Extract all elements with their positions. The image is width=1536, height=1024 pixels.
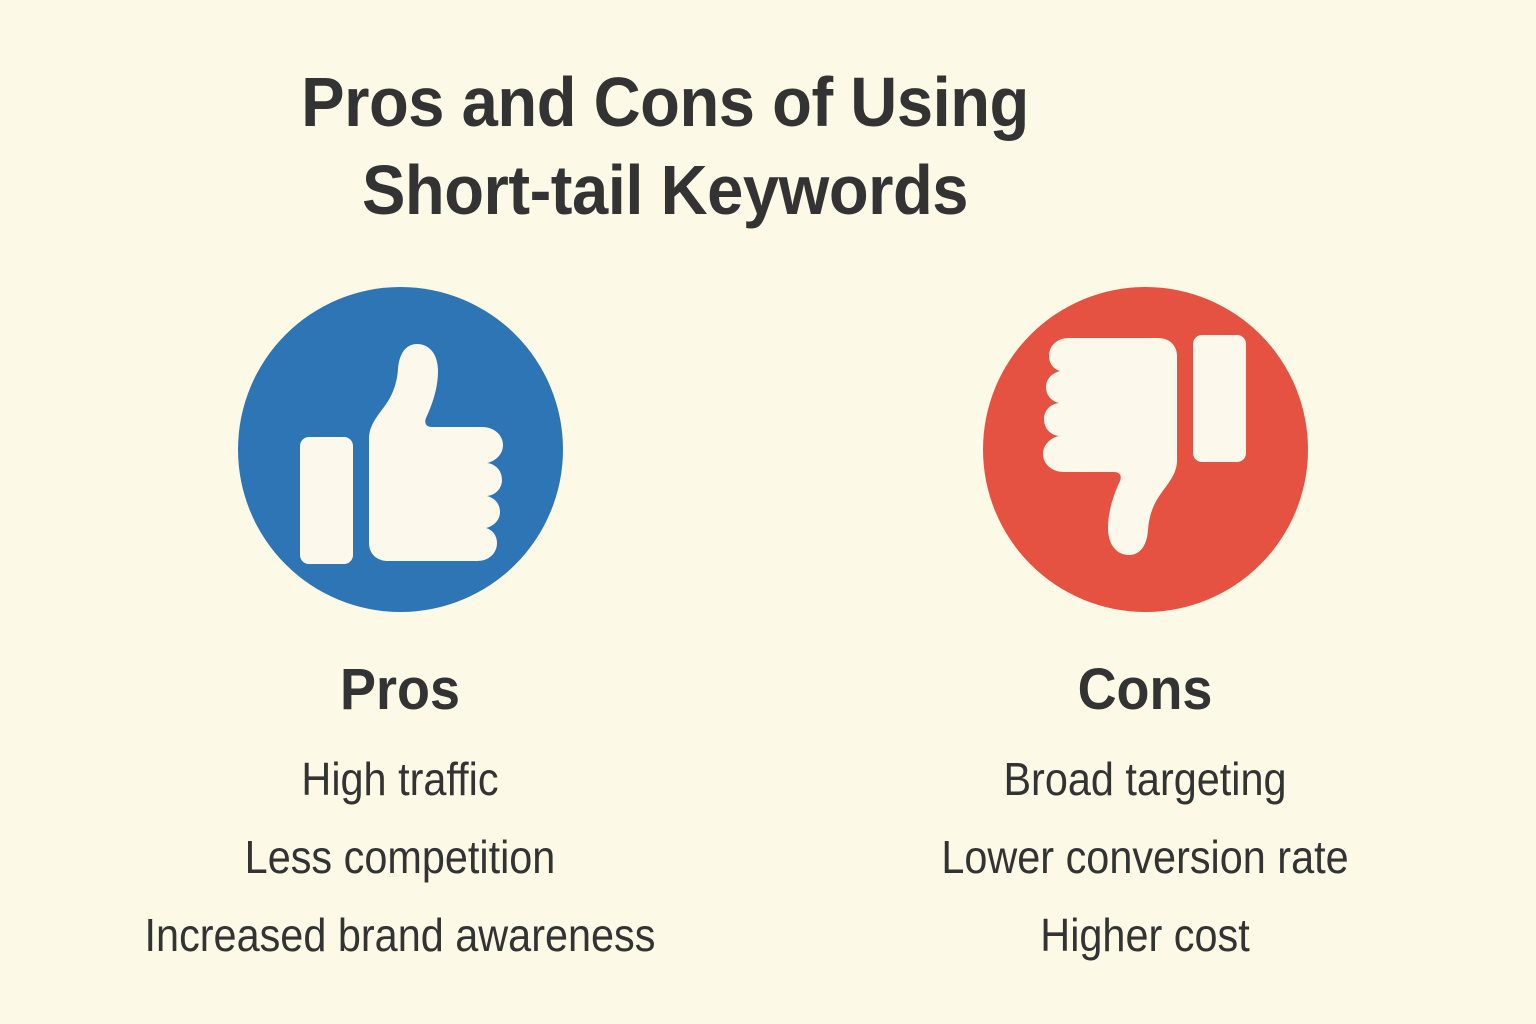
list-item: Less competition (85, 818, 715, 896)
cons-list: Broad targeting Lower conversion rate Hi… (795, 740, 1495, 974)
title-line-2: Short-tail Keywords (47, 146, 1284, 234)
cons-heading: Cons (820, 658, 1471, 722)
title-line-1: Pros and Cons of Using (47, 58, 1284, 146)
thumbs-down-icon (983, 287, 1308, 612)
list-item: Lower conversion rate (830, 818, 1460, 896)
pros-list: High traffic Less competition Increased … (50, 740, 750, 974)
list-item: Increased brand awareness (85, 896, 715, 974)
pros-heading: Pros (75, 658, 726, 722)
list-item: Broad targeting (830, 740, 1460, 818)
thumbs-up-icon (238, 287, 563, 612)
infographic-poster: Pros and Cons of Using Short-tail Keywor… (0, 0, 1536, 1024)
column-cons: Cons Broad targeting Lower conversion ra… (795, 287, 1495, 974)
pros-badge (238, 287, 563, 612)
column-pros: Pros High traffic Less competition Incre… (50, 287, 750, 974)
comparison-columns: Pros High traffic Less competition Incre… (0, 287, 1536, 987)
list-item: Higher cost (830, 896, 1460, 974)
page-title: Pros and Cons of Using Short-tail Keywor… (0, 58, 1330, 234)
list-item: High traffic (85, 740, 715, 818)
cons-badge (983, 287, 1308, 612)
